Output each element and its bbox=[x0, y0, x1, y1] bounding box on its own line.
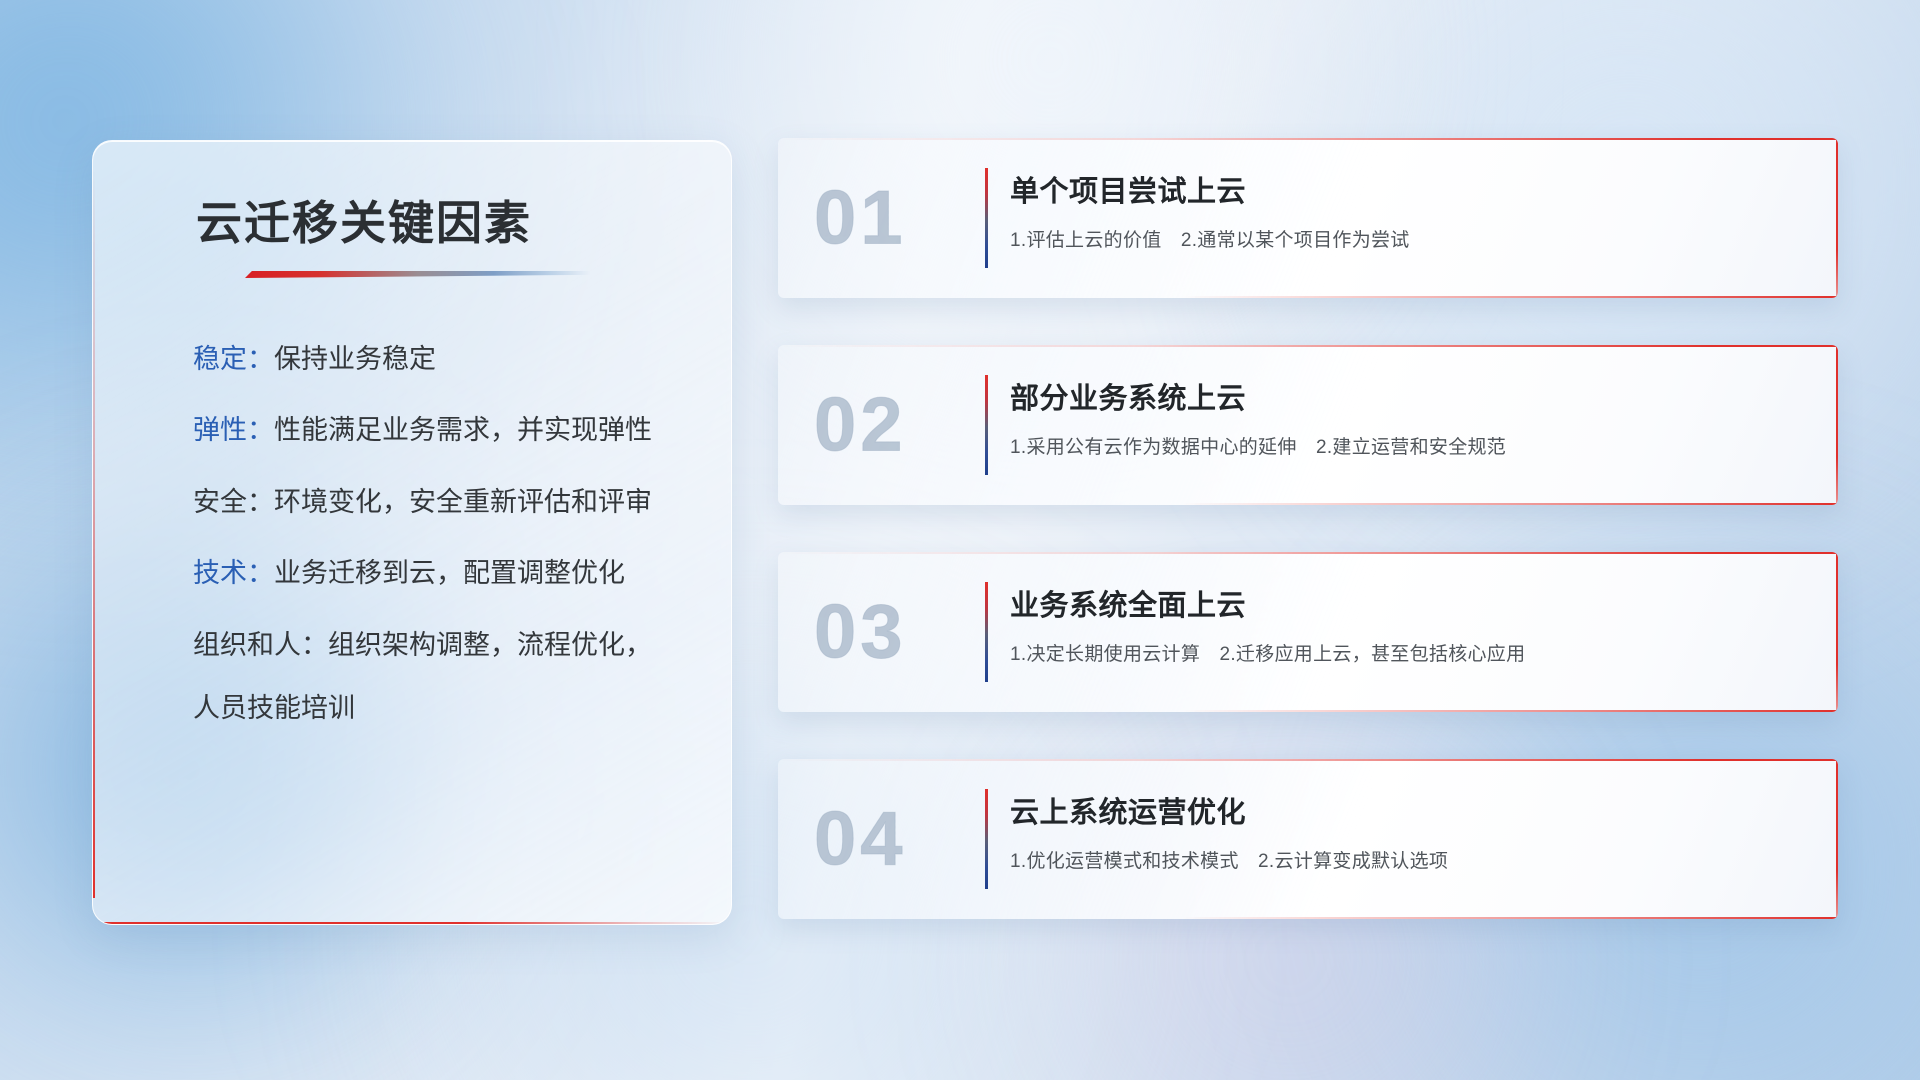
factor-label: 技术： bbox=[193, 558, 274, 588]
step-divider bbox=[985, 789, 988, 889]
card-accent-right bbox=[1836, 759, 1838, 919]
factor-label: 安全： bbox=[193, 487, 274, 517]
step-title: 业务系统全面上云 bbox=[1010, 582, 1804, 624]
step-description: 1.决定长期使用云计算 2.迁移应用上云，甚至包括核心应用 bbox=[1010, 639, 1804, 666]
page-title: 云迁移关键因素 bbox=[196, 187, 532, 253]
list-item: 弹性：性能满足业务需求，并实现弹性 bbox=[193, 412, 691, 448]
card-accent-top bbox=[778, 345, 1838, 347]
factor-text: 环境变化，安全重新评估和评审 bbox=[274, 487, 652, 517]
step-body: 云上系统运营优化 1.优化运营模式和技术模式 2.云计算变成默认选项 bbox=[1010, 789, 1804, 873]
step-card[interactable]: 01 单个项目尝试上云 1.评估上云的价值 2.通常以某个项目作为尝试 bbox=[778, 138, 1838, 298]
step-body: 业务系统全面上云 1.决定长期使用云计算 2.迁移应用上云，甚至包括核心应用 bbox=[1010, 582, 1804, 666]
step-title: 云上系统运营优化 bbox=[1010, 789, 1804, 831]
factor-text: 组织架构调整，流程优化， bbox=[328, 630, 652, 660]
factor-list: 稳定：保持业务稳定 弹性：性能满足业务需求，并实现弹性 安全：环境变化，安全重新… bbox=[193, 341, 691, 725]
card-accent-top bbox=[778, 138, 1838, 140]
step-title: 单个项目尝试上云 bbox=[1010, 168, 1804, 210]
factor-label: 弹性： bbox=[193, 415, 274, 445]
card-accent-bottom bbox=[1181, 296, 1838, 298]
step-number: 04 bbox=[814, 796, 907, 883]
factor-label: 组织和人： bbox=[193, 630, 328, 660]
step-description: 1.优化运营模式和技术模式 2.云计算变成默认选项 bbox=[1010, 846, 1804, 873]
card-accent-bottom bbox=[1181, 503, 1838, 505]
step-divider bbox=[985, 168, 988, 268]
step-number: 01 bbox=[814, 175, 907, 262]
card-accent-bottom bbox=[1181, 917, 1838, 919]
step-card[interactable]: 03 业务系统全面上云 1.决定长期使用云计算 2.迁移应用上云，甚至包括核心应… bbox=[778, 552, 1838, 712]
list-item: 稳定：保持业务稳定 bbox=[193, 341, 691, 377]
factor-text: 业务迁移到云，配置调整优化 bbox=[274, 558, 625, 588]
card-accent-right bbox=[1836, 552, 1838, 712]
card-accent-right bbox=[1836, 345, 1838, 505]
list-item: 安全：环境变化，安全重新评估和评审 bbox=[193, 484, 691, 520]
step-description: 1.评估上云的价值 2.通常以某个项目作为尝试 bbox=[1010, 225, 1804, 252]
step-card[interactable]: 02 部分业务系统上云 1.采用公有云作为数据中心的延伸 2.建立运营和安全规范 bbox=[778, 345, 1838, 505]
step-number: 03 bbox=[814, 589, 907, 676]
factor-label: 稳定： bbox=[193, 344, 274, 374]
list-item: 技术：业务迁移到云，配置调整优化 bbox=[193, 555, 691, 591]
step-body: 部分业务系统上云 1.采用公有云作为数据中心的延伸 2.建立运营和安全规范 bbox=[1010, 375, 1804, 459]
list-item: 组织和人：组织架构调整，流程优化， bbox=[193, 627, 691, 663]
step-number: 02 bbox=[814, 382, 907, 469]
step-title: 部分业务系统上云 bbox=[1010, 375, 1804, 417]
step-card[interactable]: 04 云上系统运营优化 1.优化运营模式和技术模式 2.云计算变成默认选项 bbox=[778, 759, 1838, 919]
step-body: 单个项目尝试上云 1.评估上云的价值 2.通常以某个项目作为尝试 bbox=[1010, 168, 1804, 252]
migration-steps-list: 01 单个项目尝试上云 1.评估上云的价值 2.通常以某个项目作为尝试 02 部… bbox=[778, 138, 1838, 919]
step-divider bbox=[985, 582, 988, 682]
factor-text-continuation: 人员技能培训 bbox=[193, 686, 691, 725]
card-accent-top bbox=[778, 759, 1838, 761]
factor-text: 保持业务稳定 bbox=[274, 344, 436, 374]
step-divider bbox=[985, 375, 988, 475]
title-underline-accent bbox=[245, 271, 590, 278]
card-accent-bottom bbox=[1181, 710, 1838, 712]
card-accent-right bbox=[1836, 138, 1838, 298]
factor-text: 性能满足业务需求，并实现弹性 bbox=[274, 415, 652, 445]
step-description: 1.采用公有云作为数据中心的延伸 2.建立运营和安全规范 bbox=[1010, 432, 1804, 459]
key-factors-panel: 云迁移关键因素 稳定：保持业务稳定 弹性：性能满足业务需求，并实现弹性 安全：环… bbox=[92, 140, 732, 925]
card-accent-top bbox=[778, 552, 1838, 554]
